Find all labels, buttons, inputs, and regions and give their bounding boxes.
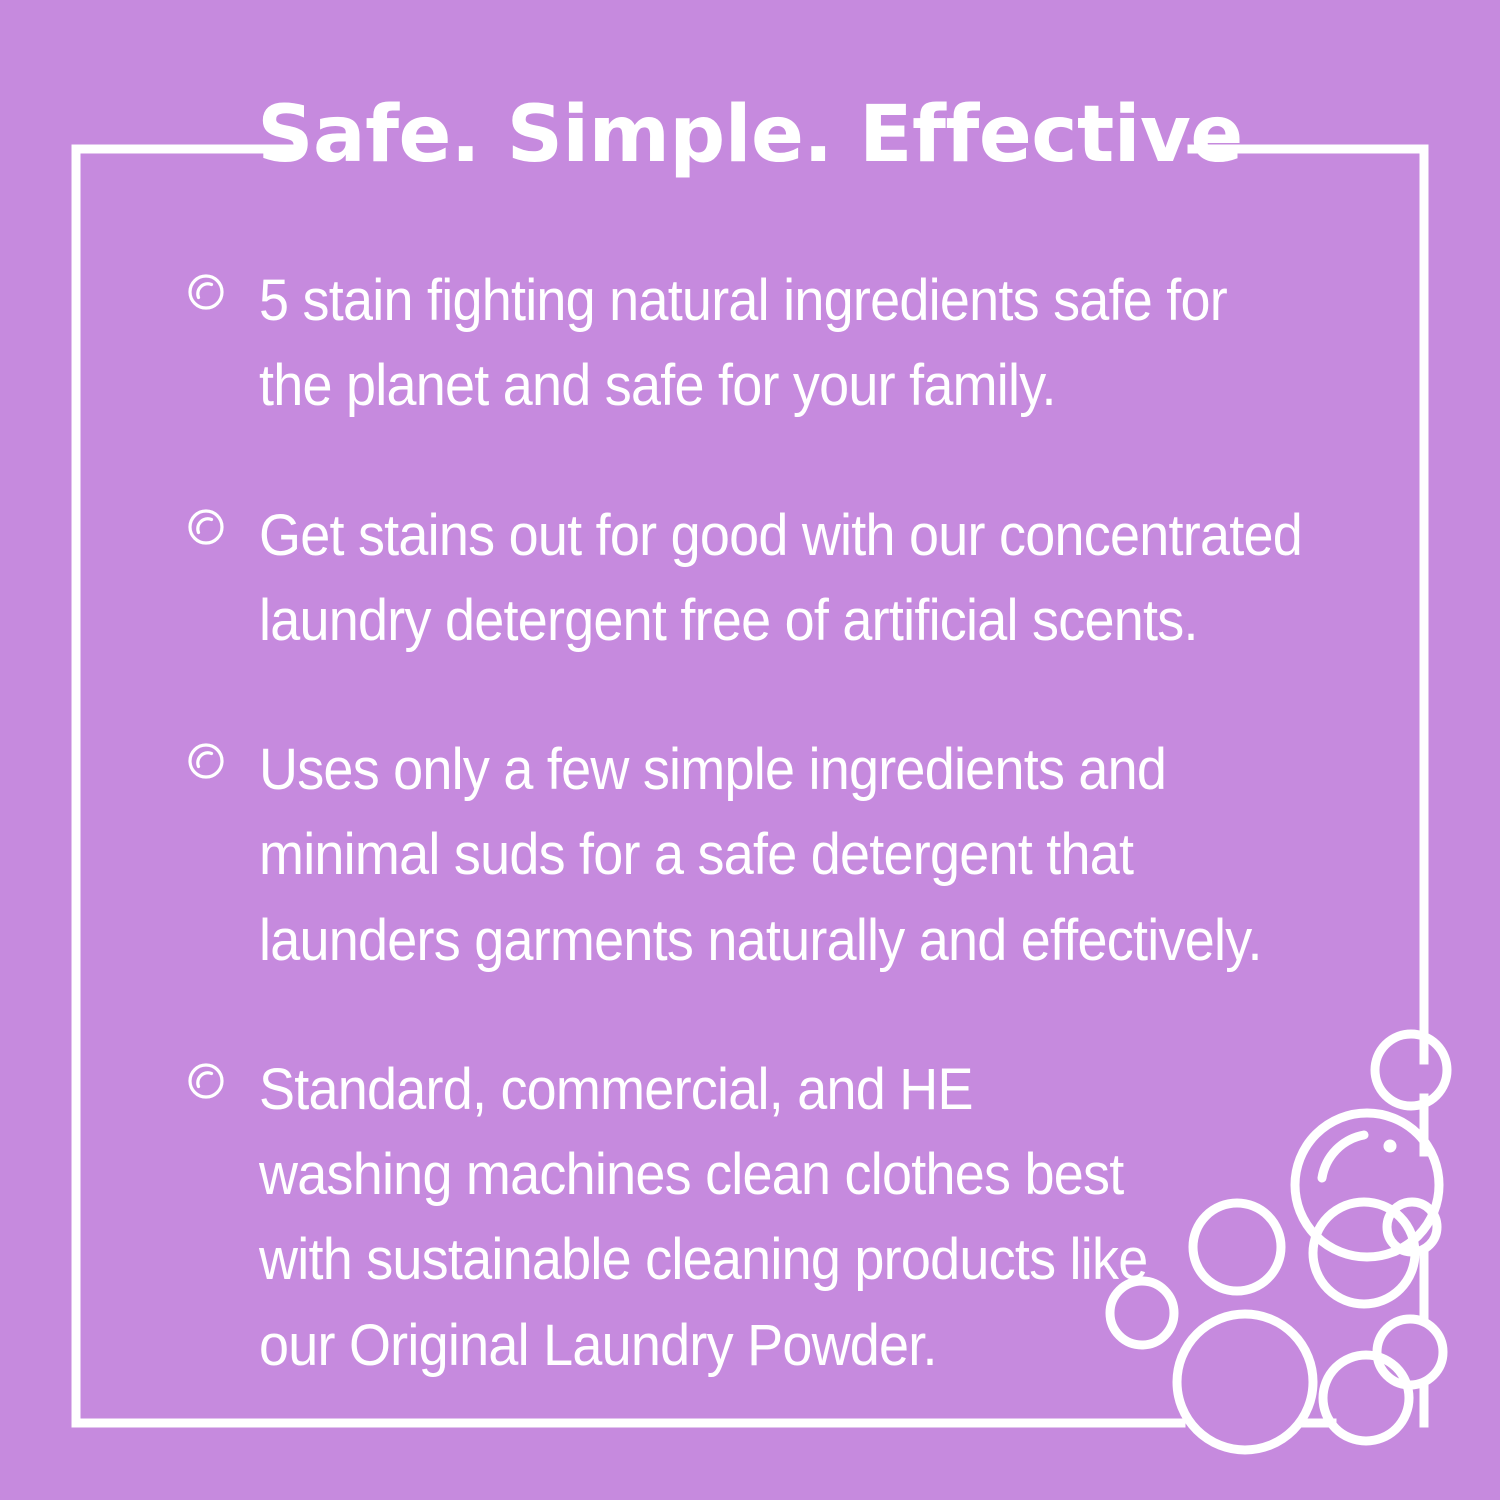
page-title: Safe. Simple. Effective: [0, 96, 1500, 174]
bubble-ring-icon: [186, 507, 226, 547]
list-item: Get stains out for good with our concent…: [186, 493, 1401, 664]
benefits-list: 5 stain fighting natural ingredients saf…: [186, 258, 1401, 1388]
bubble-ring-icon: [186, 1061, 226, 1101]
list-item-text: Standard, commercial, and HE washing mac…: [259, 1047, 1321, 1388]
list-item-text: Uses only a few simple ingredients and m…: [259, 727, 1321, 983]
list-item: Standard, commercial, and HE washing mac…: [186, 1047, 1401, 1388]
bubble-ring-icon: [186, 741, 226, 781]
list-item: Uses only a few simple ingredients and m…: [186, 727, 1401, 983]
list-item-text: 5 stain fighting natural ingredients saf…: [259, 258, 1321, 429]
list-item-text: Get stains out for good with our concent…: [259, 493, 1321, 664]
list-item: 5 stain fighting natural ingredients saf…: [186, 258, 1401, 429]
bubble-ring-icon: [186, 272, 226, 312]
product-benefits-poster: Safe. Simple. Effective 5 stain fighting…: [0, 0, 1500, 1500]
